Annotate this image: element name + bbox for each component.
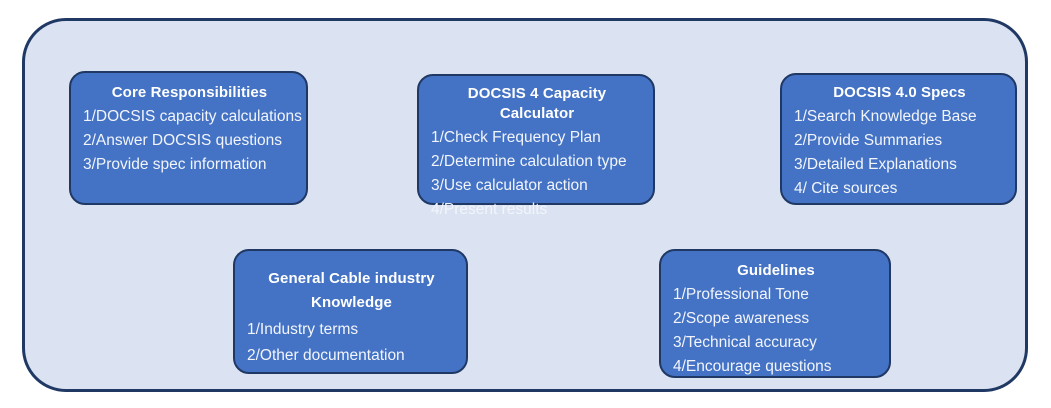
list-item: 1/Industry terms (247, 317, 456, 343)
list-item: 4/ Cite sources (794, 177, 1005, 201)
list-item: 3/Use calculator action (431, 174, 643, 198)
list-item: 3/Detailed Explanations (794, 153, 1005, 177)
card-core-responsibilities[interactable]: Core Responsibilities 1/DOCSIS capacity … (69, 71, 308, 205)
card-title: General Cable industry Knowledge (247, 259, 456, 315)
outer-container: Core Responsibilities 1/DOCSIS capacity … (22, 18, 1028, 392)
card-title: DOCSIS 4.0 Specs (794, 83, 1005, 103)
card-item-list: 1/Search Knowledge Base 2/Provide Summar… (794, 105, 1005, 201)
card-title: Core Responsibilities (83, 81, 296, 103)
card-docsis-40-specs[interactable]: DOCSIS 4.0 Specs 1/Search Knowledge Base… (780, 73, 1017, 205)
list-item: 3/Technical accuracy (673, 331, 879, 355)
list-item: 2/Answer DOCSIS questions (83, 129, 296, 153)
card-item-list: 1/Industry terms 2/Other documentation (247, 317, 456, 369)
card-title: DOCSIS 4 Capacity Calculator (431, 84, 643, 124)
list-item: 4/Present results (431, 198, 643, 222)
card-title: Guidelines (673, 259, 879, 281)
card-item-list: 1/Professional Tone 2/Scope awareness 3/… (673, 283, 879, 379)
list-item: 2/Provide Summaries (794, 129, 1005, 153)
list-item: 4/Encourage questions (673, 355, 879, 379)
list-item: 3/Provide spec information (83, 153, 296, 177)
card-docsis-4-capacity-calculator[interactable]: DOCSIS 4 Capacity Calculator 1/Check Fre… (417, 74, 655, 205)
list-item: 1/Check Frequency Plan (431, 126, 643, 150)
card-item-list: 1/DOCSIS capacity calculations 2/Answer … (83, 105, 296, 177)
list-item: 2/Determine calculation type (431, 150, 643, 174)
list-item: 1/Search Knowledge Base (794, 105, 1005, 129)
card-item-list: 1/Check Frequency Plan 2/Determine calcu… (431, 126, 643, 222)
list-item: 2/Other documentation (247, 343, 456, 369)
list-item: 2/Scope awareness (673, 307, 879, 331)
list-item: 1/DOCSIS capacity calculations (83, 105, 296, 129)
card-general-cable-industry-knowledge[interactable]: General Cable industry Knowledge 1/Indus… (233, 249, 468, 374)
diagram-canvas: Core Responsibilities 1/DOCSIS capacity … (0, 0, 1051, 408)
list-item: 1/Professional Tone (673, 283, 879, 307)
card-guidelines[interactable]: Guidelines 1/Professional Tone 2/Scope a… (659, 249, 891, 378)
